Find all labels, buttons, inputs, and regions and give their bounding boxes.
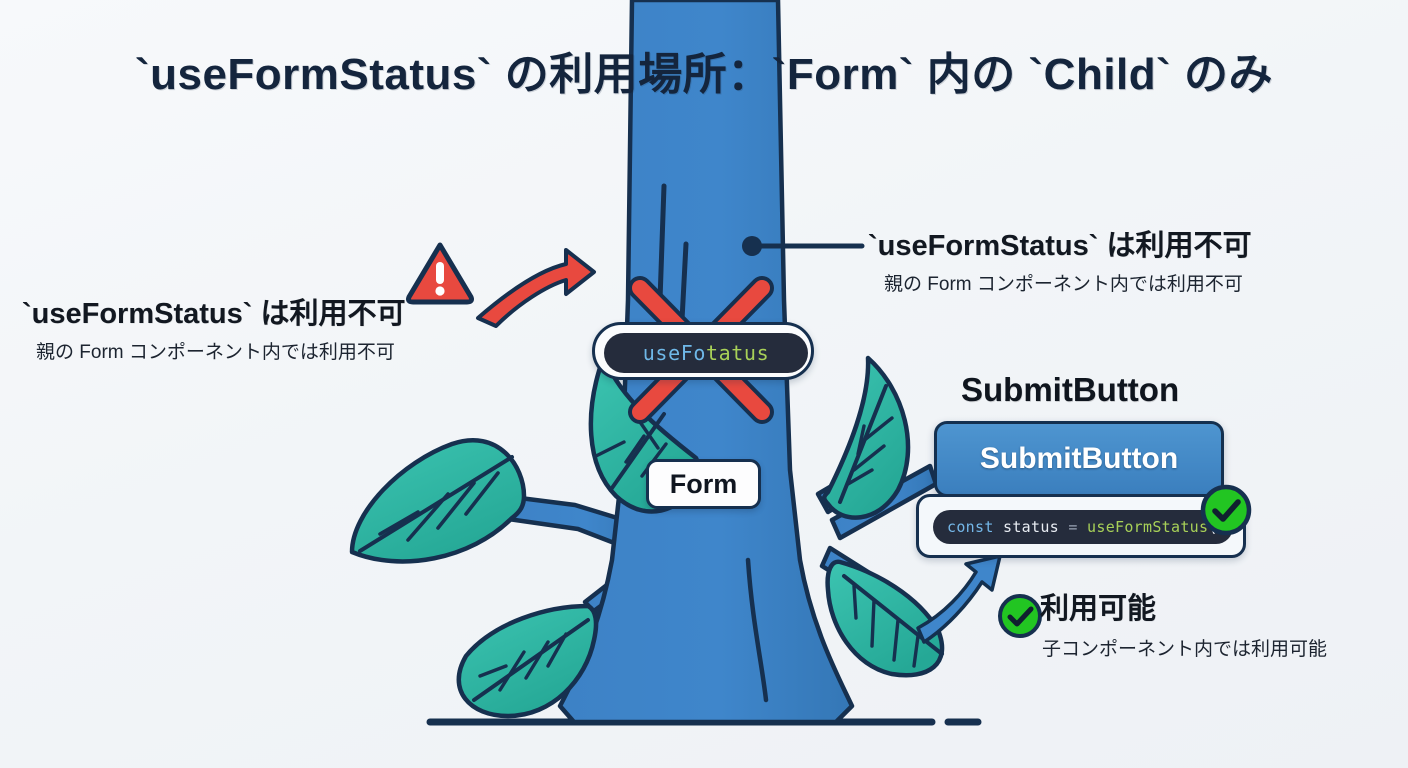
code-pill-inner: useFotatus [604, 333, 808, 373]
callout-left-unavailable: `useFormStatus` は利用不可 親の Form コンポーネント内では… [22, 290, 405, 364]
code-line: const status = useFormStatus(); [947, 518, 1233, 536]
code-pill-suffix: tatus [706, 341, 769, 365]
blue-curved-arrow-icon [918, 556, 1000, 642]
callout-available-subtext: 子コンポーネント内では利用可能 [1042, 634, 1327, 661]
code-token-function: useFormStatus [1087, 518, 1208, 536]
code-space-2 [1059, 518, 1068, 536]
callout-available-heading: 利用可能 [1040, 585, 1327, 627]
callout-left-heading: `useFormStatus` は利用不可 [22, 290, 405, 332]
submit-button-title: SubmitButton [961, 371, 1179, 409]
code-space-3 [1078, 518, 1087, 536]
code-token-operator: = [1068, 518, 1077, 536]
warning-triangle-icon [405, 241, 475, 310]
callout-available: 利用可能 子コンポーネント内では利用可能 [1040, 585, 1327, 661]
code-token-variable: status [1003, 518, 1059, 536]
code-space-1 [994, 518, 1003, 536]
code-pill-prefix: useFo [643, 341, 706, 365]
leaf-right-upper [824, 358, 908, 518]
submit-button-node-label: SubmitButton [980, 442, 1178, 476]
callout-left-subtext: 親の Form コンポーネント内では利用不可 [36, 337, 405, 364]
code-pill-text: useFotatus [643, 341, 769, 365]
leaf-left-middle [352, 440, 524, 561]
callout-right-heading: `useFormStatus` は利用不可 [868, 222, 1251, 264]
callout-right-subtext: 親の Form コンポーネント内では利用不可 [884, 269, 1251, 296]
form-node-label: Form [646, 459, 761, 509]
page-title: `useFormStatus` の利用場所：`Form` 内の `Child` … [0, 38, 1408, 102]
code-card-useformstatus: const status = useFormStatus(); [916, 494, 1246, 558]
red-curved-arrow-icon [478, 250, 594, 326]
green-check-circle-icon-available [996, 592, 1044, 645]
green-check-circle-icon [1199, 483, 1253, 542]
submit-button-node[interactable]: SubmitButton [934, 421, 1224, 497]
leaf-right-lower [828, 562, 942, 675]
callout-right-unavailable: `useFormStatus` は利用不可 親の Form コンポーネント内では… [868, 222, 1251, 296]
code-token-keyword: const [947, 518, 994, 536]
code-pill-useformstatus: useFotatus [592, 322, 814, 380]
code-card-inner: const status = useFormStatus(); [933, 510, 1233, 544]
